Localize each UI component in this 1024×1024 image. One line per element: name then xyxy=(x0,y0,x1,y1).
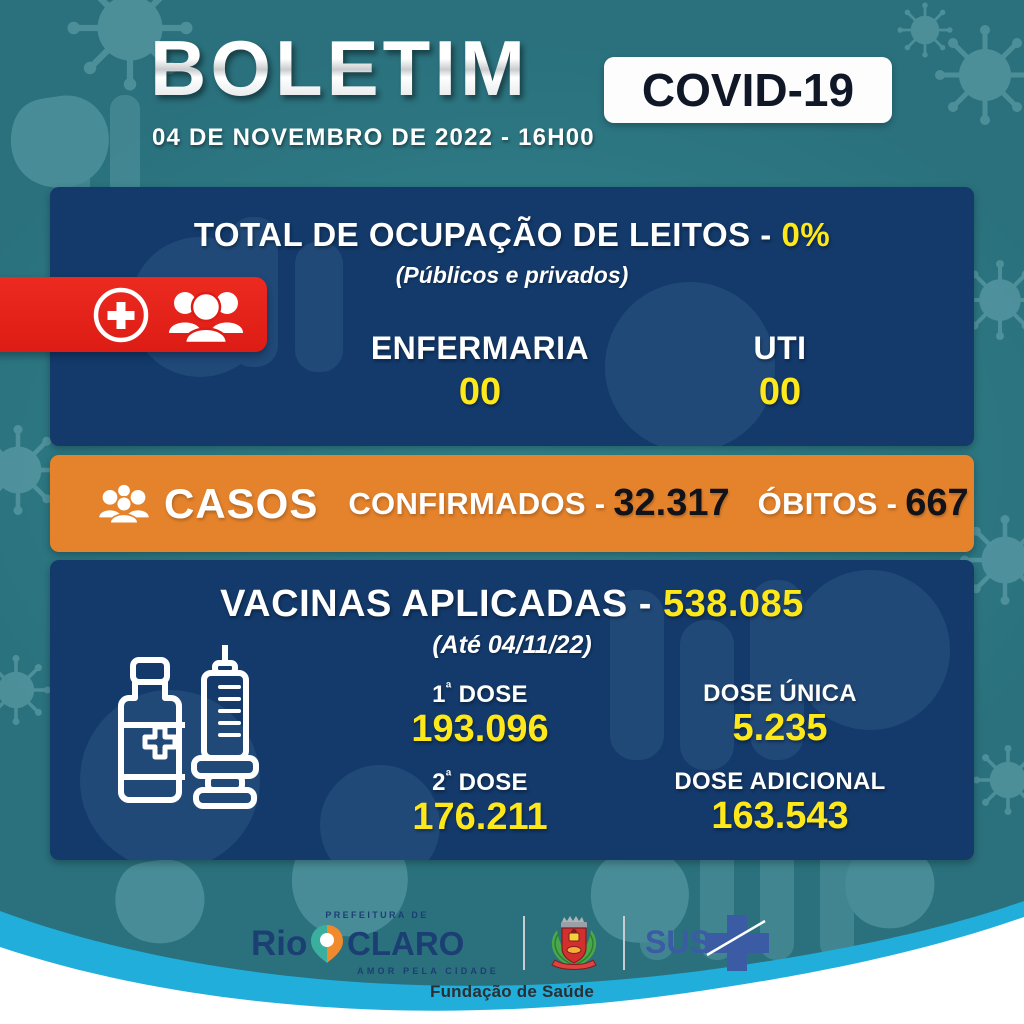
rio-claro-logo: PREFEITURA DE Rio CLARO AMOR PELA CIDADE xyxy=(251,910,503,976)
header: BOLETIM 04 DE NOVEMBRO DE 2022 - 16H00 C… xyxy=(0,0,1024,175)
beds-uti-value: 00 xyxy=(630,371,930,414)
cases-confirmed-value: 32.317 xyxy=(613,482,729,525)
svg-text:CLARO: CLARO xyxy=(347,925,464,962)
covid-badge-label: COVID-19 xyxy=(642,63,854,117)
vaccines-subtitle: (Até 04/11/22) xyxy=(0,631,1024,660)
medical-cross-circle-icon xyxy=(91,285,151,345)
cases-deaths-value: 667 xyxy=(905,482,968,525)
beds-title-text: TOTAL DE OCUPAÇÃO DE LEITOS - xyxy=(194,216,782,253)
vaccine-second-dose-value: 176.211 xyxy=(330,797,630,838)
rio-claro-wordmark: Rio CLARO xyxy=(251,921,503,965)
vaccine-cell-second-dose: 2ª DOSE 176.211 xyxy=(330,768,630,838)
vaccine-first-dose-label: 1ª DOSE xyxy=(330,680,630,709)
foundation-label: Fundação de Saúde xyxy=(430,982,594,1002)
sus-label: SUS xyxy=(645,924,711,960)
cases-deaths-label: ÓBITOS - xyxy=(758,486,898,522)
beds-subtitle: (Públicos e privados) xyxy=(0,262,1024,289)
svg-text:Rio: Rio xyxy=(251,924,307,963)
beds-enfermaria-value: 00 xyxy=(330,371,630,414)
infographic-canvas: BOLETIM 04 DE NOVEMBRO DE 2022 - 16H00 C… xyxy=(0,0,1024,1024)
beds-col-uti: UTI 00 xyxy=(630,330,930,414)
vaccines-grid: 1ª DOSE 193.096 DOSE ÚNICA 5.235 2ª DOSE… xyxy=(330,680,930,838)
bulletin-date: 04 DE NOVEMBRO DE 2022 - 16H00 xyxy=(152,124,595,152)
label-rest: DOSE xyxy=(452,681,528,708)
vaccine-cell-additional-dose: DOSE ADICIONAL 163.543 xyxy=(630,768,930,838)
vaccine-cell-single-dose: DOSE ÚNICA 5.235 xyxy=(630,680,930,750)
label-main: 2 xyxy=(432,769,446,796)
beds-occupancy-value: 0% xyxy=(781,216,830,253)
cases-word: CASOS xyxy=(164,480,318,528)
footer-divider-2 xyxy=(623,916,625,970)
covid-badge: COVID-19 xyxy=(604,57,892,123)
label-main: DOSE ÚNICA xyxy=(703,680,857,707)
syringe-icon xyxy=(194,645,256,806)
footer: PREFEITURA DE Rio CLARO AMOR PELA CIDADE xyxy=(0,904,1024,1024)
coat-of-arms-icon xyxy=(545,914,603,972)
beds-uti-label: UTI xyxy=(630,330,930,367)
vaccine-first-dose-value: 193.096 xyxy=(330,709,630,750)
beds-col-enfermaria: ENFERMARIA 00 xyxy=(330,330,630,414)
people-group-icon xyxy=(167,285,245,345)
beds-enfermaria-label: ENFERMARIA xyxy=(330,330,630,367)
vaccines-title: VACINAS APLICADAS - 538.085 xyxy=(0,583,1024,626)
vaccine-single-dose-label: DOSE ÚNICA xyxy=(630,680,930,708)
beds-title: TOTAL DE OCUPAÇÃO DE LEITOS - 0% xyxy=(0,216,1024,254)
label-rest: DOSE xyxy=(452,769,528,796)
heart-pin-icon xyxy=(311,925,343,963)
vaccines-total-value: 538.085 xyxy=(663,583,804,625)
people-group-icon xyxy=(98,478,150,530)
sus-logo: SUS xyxy=(645,915,773,971)
cases-confirmed-label: CONFIRMADOS - xyxy=(348,486,605,522)
vaccine-additional-dose-value: 163.543 xyxy=(630,796,930,837)
vaccine-second-dose-label: 2ª DOSE xyxy=(330,768,630,797)
vaccine-cell-first-dose: 1ª DOSE 193.096 xyxy=(330,680,630,750)
prefeitura-label: PREFEITURA DE xyxy=(325,910,428,920)
footer-logos: PREFEITURA DE Rio CLARO AMOR PELA CIDADE xyxy=(251,910,773,976)
vaccine-icons xyxy=(108,645,263,820)
sus-cross-icon xyxy=(705,915,769,971)
footer-divider-1 xyxy=(523,916,525,970)
vaccine-vial-icon xyxy=(121,660,185,800)
label-main: DOSE ADICIONAL xyxy=(674,768,885,795)
beds-columns: ENFERMARIA 00 UTI 00 xyxy=(330,330,930,414)
vaccine-single-dose-value: 5.235 xyxy=(630,708,930,749)
page-title: BOLETIM xyxy=(150,29,529,107)
cases-row: CASOS CONFIRMADOS - 32.317 ÓBITOS - 667 xyxy=(50,455,974,552)
vaccine-additional-dose-label: DOSE ADICIONAL xyxy=(630,768,930,796)
city-tagline: AMOR PELA CIDADE xyxy=(357,966,499,976)
label-main: 1 xyxy=(432,681,446,708)
vaccines-title-text: VACINAS APLICADAS - xyxy=(220,583,663,625)
